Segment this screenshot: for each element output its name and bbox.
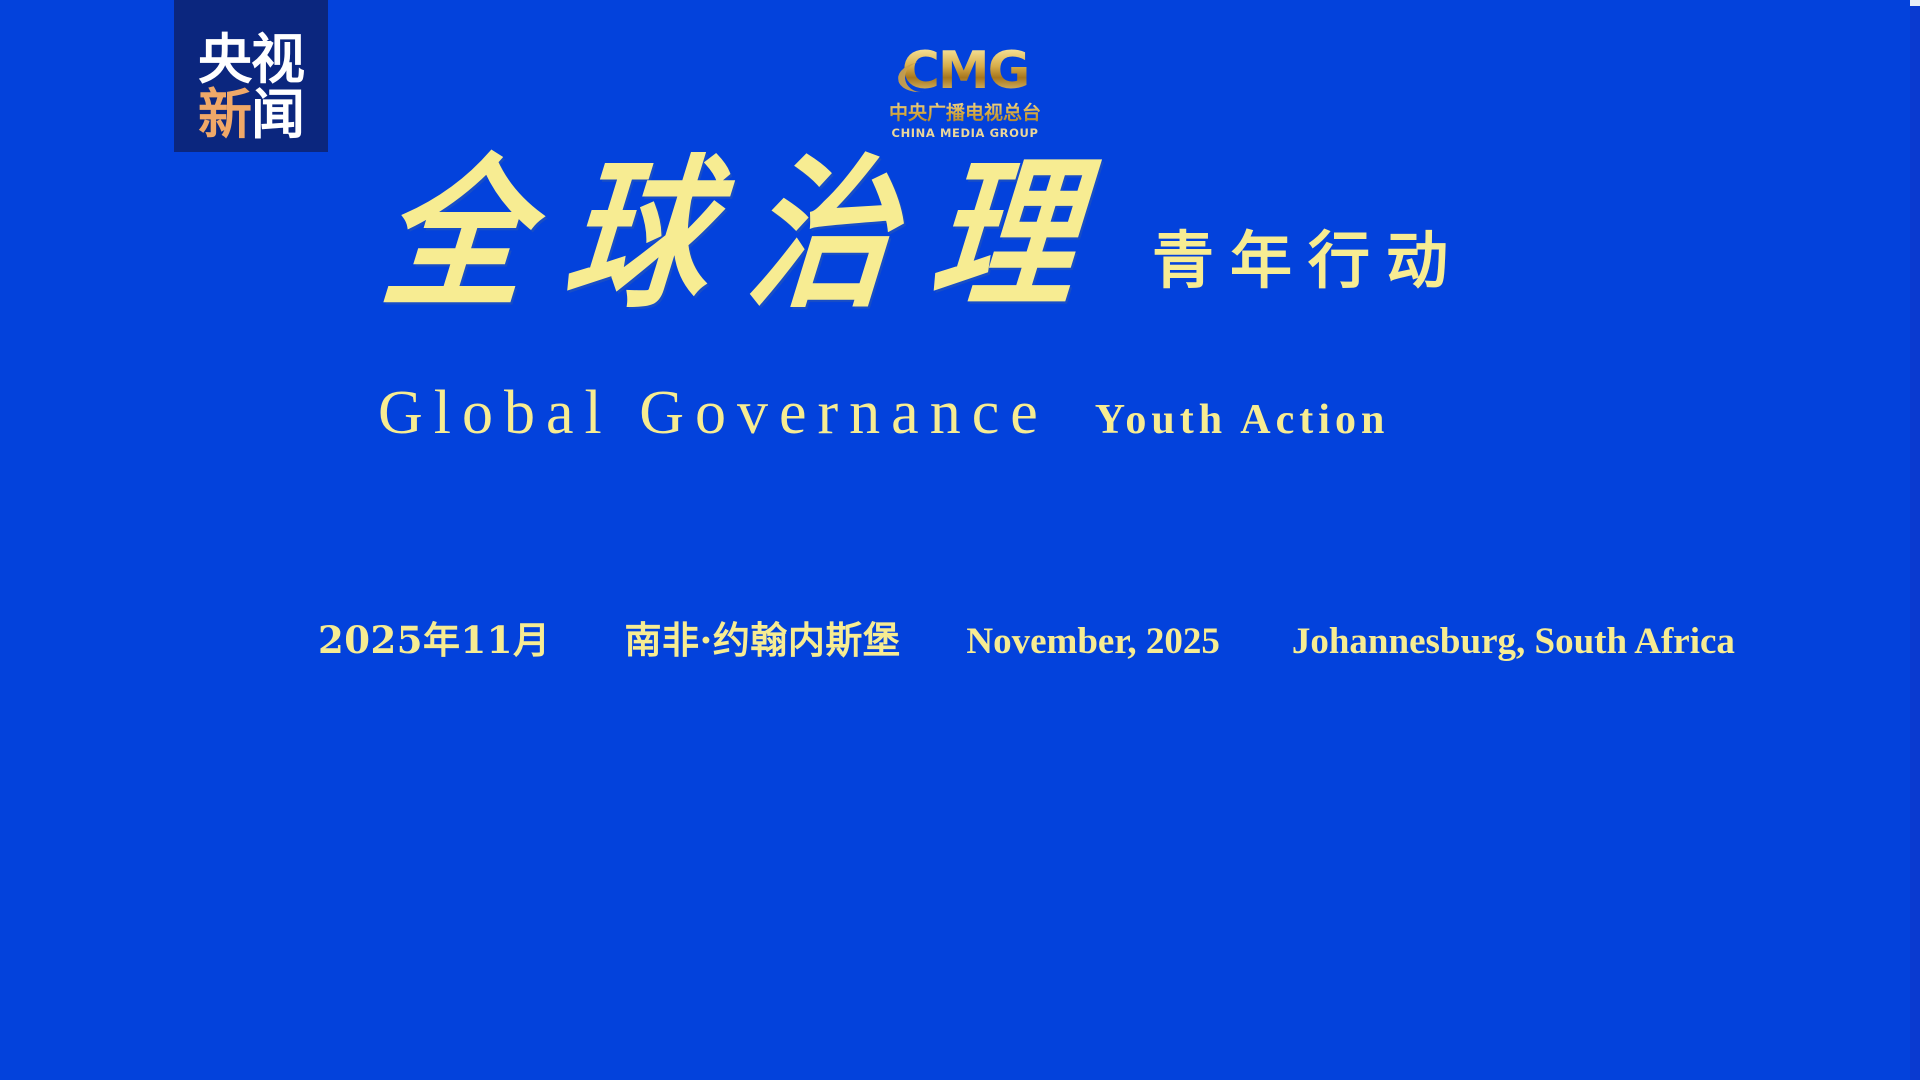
title-english-main: Global Governance xyxy=(378,382,1049,444)
cctv-logo-line2: 新 闻 xyxy=(198,89,304,142)
event-date-english: November, 2025 xyxy=(966,623,1220,660)
cmg-chinese-name: 中央广播电视总台 xyxy=(880,98,1050,125)
title-chinese-main: 全球治理 xyxy=(376,153,1122,316)
cmg-wordmark: CMG xyxy=(902,48,1029,96)
cctv-logo-char-wen: 闻 xyxy=(251,89,304,142)
cctv-logo-line1: 央视 xyxy=(198,34,304,87)
cctv-news-logo: 央视 新 闻 xyxy=(174,0,328,152)
event-info-row: 2025年11月 南非·约翰内斯堡 November, 2025 Johanne… xyxy=(318,622,1735,660)
title-english-sub: Youth Action xyxy=(1095,399,1390,441)
cmg-swoosh-icon xyxy=(896,60,946,95)
title-chinese-row: 全球治理 青年行动 xyxy=(376,178,1464,316)
event-location-english: Johannesburg, South Africa xyxy=(1292,623,1735,660)
broadcast-title-card: 央视 新 闻 CMG 中央广播电视总台 CHINA MEDIA GROUP 全球… xyxy=(0,0,1920,1080)
right-edge-top-notch xyxy=(1910,0,1920,6)
event-location-chinese: 南非·约翰内斯堡 xyxy=(624,622,900,659)
title-english-row: Global Governance Youth Action xyxy=(378,382,1389,444)
cctv-logo-char-xin: 新 xyxy=(198,89,251,142)
cmg-logo: CMG 中央广播电视总台 CHINA MEDIA GROUP xyxy=(880,48,1050,140)
title-chinese-sub: 青年行动 xyxy=(1152,230,1464,292)
right-edge-band xyxy=(1910,0,1920,1080)
event-date-chinese: 2025年11月 xyxy=(318,622,550,659)
